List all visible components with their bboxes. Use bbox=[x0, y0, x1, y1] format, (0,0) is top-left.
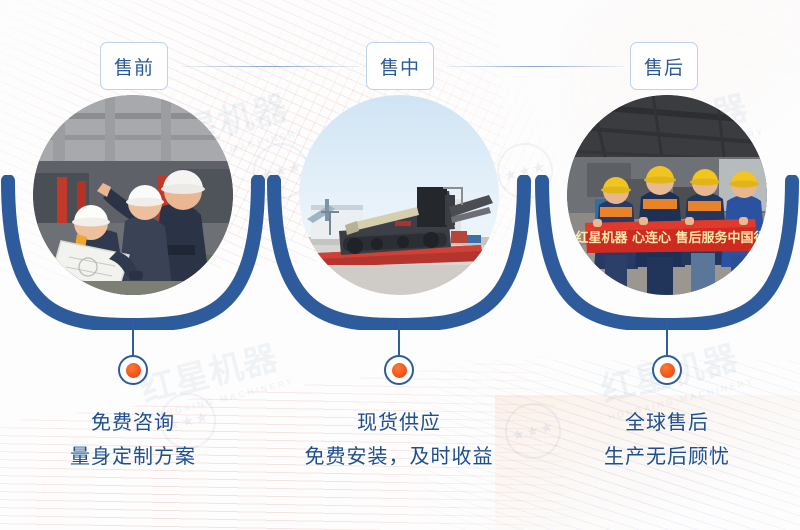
marker-inner-dot bbox=[126, 363, 141, 378]
step-column-after-sale: 红星机器 心连心 售后服务中国行 全球售后 生产无后顾忧 bbox=[534, 0, 800, 530]
step-column-pre-sale: 免费咨询 量身定制方案 bbox=[0, 0, 266, 530]
step-marker-dot[interactable] bbox=[384, 355, 414, 385]
caption-line-1: 全球售后 bbox=[534, 406, 800, 440]
marker-inner-dot bbox=[660, 363, 675, 378]
marker-inner-dot bbox=[392, 363, 407, 378]
connector-stem bbox=[666, 318, 668, 356]
infographic-canvas: 红星机器 HONGXING MACHINERY 红星机器 HONGXING MA… bbox=[0, 0, 800, 530]
step-marker-dot[interactable] bbox=[652, 355, 682, 385]
step-column-in-sale: 现货供应 免费安装，及时收益 bbox=[266, 0, 532, 530]
photo-after-sale: 红星机器 心连心 售后服务中国行 bbox=[567, 95, 767, 295]
caption-line-2: 免费安装，及时收益 bbox=[266, 440, 532, 474]
connector-stem bbox=[398, 318, 400, 356]
caption-pre-sale: 免费咨询 量身定制方案 bbox=[0, 406, 266, 474]
step-marker-dot[interactable] bbox=[118, 355, 148, 385]
caption-line-2: 生产无后顾忧 bbox=[534, 440, 800, 474]
caption-line-1: 免费咨询 bbox=[0, 406, 266, 440]
caption-after-sale: 全球售后 生产无后顾忧 bbox=[534, 406, 800, 474]
caption-in-sale: 现货供应 免费安装，及时收益 bbox=[266, 406, 532, 474]
photo-in-sale bbox=[299, 95, 499, 295]
svg-text:红星机器 心连心 售后服务中国行: 红星机器 心连心 售后服务中国行 bbox=[575, 230, 766, 246]
caption-line-1: 现货供应 bbox=[266, 406, 532, 440]
photo-pre-sale bbox=[33, 95, 233, 295]
connector-stem bbox=[132, 318, 134, 356]
caption-line-2: 量身定制方案 bbox=[0, 440, 266, 474]
